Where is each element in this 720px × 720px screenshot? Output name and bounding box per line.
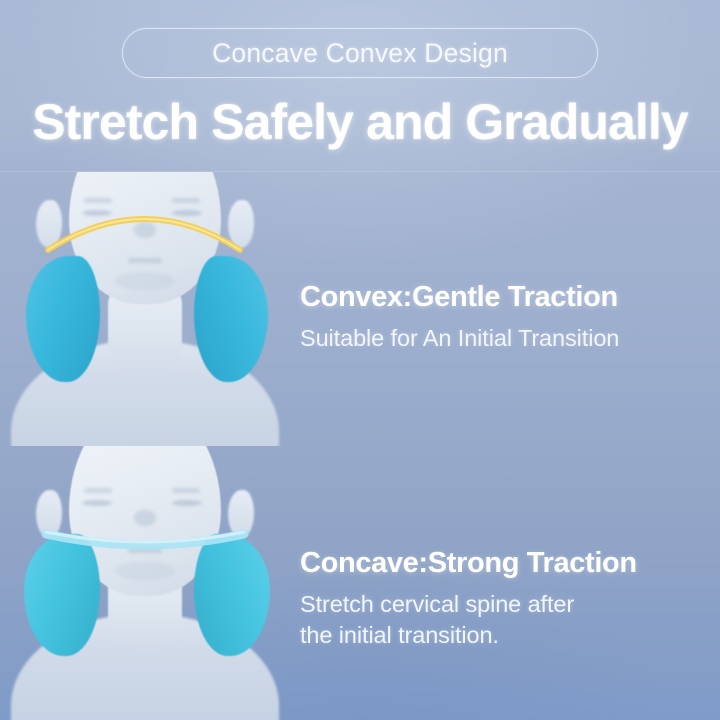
- product-infographic-poster: Concave Convex Design Stretch Safely and…: [0, 0, 720, 720]
- panel-convex: Convex:Gentle Traction Suitable for An I…: [0, 172, 720, 446]
- figure-convex: [0, 172, 290, 446]
- concave-subtitle-line-2: the initial transition.: [300, 620, 712, 651]
- convex-subtitle: Suitable for An Initial Transition: [300, 323, 712, 354]
- convex-title: Convex:Gentle Traction: [300, 280, 712, 314]
- poster-header: Concave Convex Design Stretch Safely and…: [0, 0, 720, 172]
- concave-subtitle-line-1: Stretch cervical spine after: [300, 589, 712, 620]
- figure-concave-stage: [0, 446, 290, 720]
- design-badge-label: Concave Convex Design: [212, 38, 508, 69]
- panel-concave: Concave:Strong Traction Stretch cervical…: [0, 446, 720, 720]
- copy-concave: Concave:Strong Traction Stretch cervical…: [290, 516, 720, 651]
- convex-arc-highlight: [48, 219, 240, 250]
- convex-subtitle-line-1: Suitable for An Initial Transition: [300, 323, 712, 354]
- concave-title: Concave:Strong Traction: [300, 546, 712, 580]
- concave-arc-svg: [0, 446, 290, 720]
- convex-arc-svg: [0, 172, 290, 446]
- copy-convex: Convex:Gentle Traction Suitable for An I…: [290, 264, 720, 354]
- poster-headline: Stretch Safely and Gradually: [0, 93, 720, 151]
- figure-concave: [0, 446, 290, 720]
- concave-subtitle: Stretch cervical spine after the initial…: [300, 589, 712, 651]
- figure-convex-stage: [0, 172, 290, 446]
- design-badge: Concave Convex Design: [122, 28, 598, 78]
